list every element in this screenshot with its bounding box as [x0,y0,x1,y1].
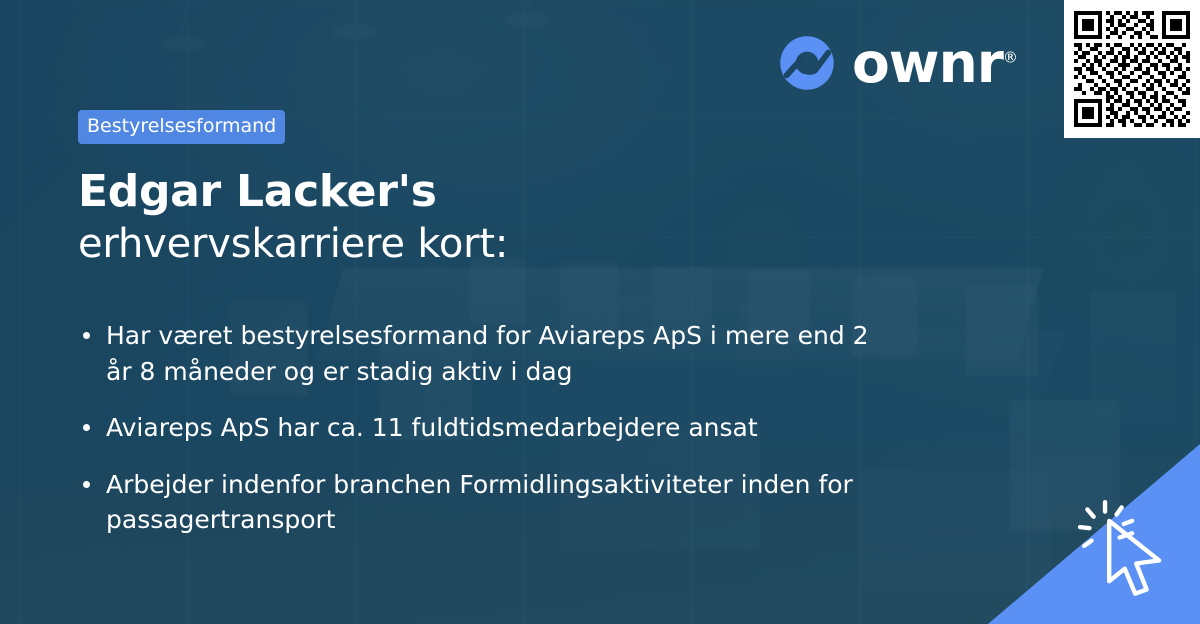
ownr-wordmark: ownr® [852,36,1018,91]
ownr-logo: ownr® [778,34,1018,92]
qr-code-icon[interactable] [1074,11,1190,127]
wordmark-text: ownr [852,31,1003,95]
role-badge: Bestyrelsesformand [78,110,285,144]
career-card: ownr® [0,0,1200,624]
list-item: Arbejder indenfor branchen Formidlingsak… [78,467,898,538]
registered-trademark-symbol: ® [1003,48,1018,66]
click-cursor-icon [1078,498,1182,602]
page-subtitle: erhvervskarriere kort: [78,220,918,269]
page-title: Edgar Lacker's [78,166,918,218]
list-item: Har været bestyrelsesformand for Aviarep… [78,318,898,389]
qr-code-panel[interactable] [1064,0,1200,138]
content-block: Bestyrelsesformand Edgar Lacker's erhver… [78,110,918,269]
ownr-circle-slash-icon [778,34,836,92]
list-item: Aviareps ApS har ca. 11 fuldtidsmedarbej… [78,410,898,446]
career-facts-list: Har været bestyrelsesformand for Aviarep… [78,318,898,559]
